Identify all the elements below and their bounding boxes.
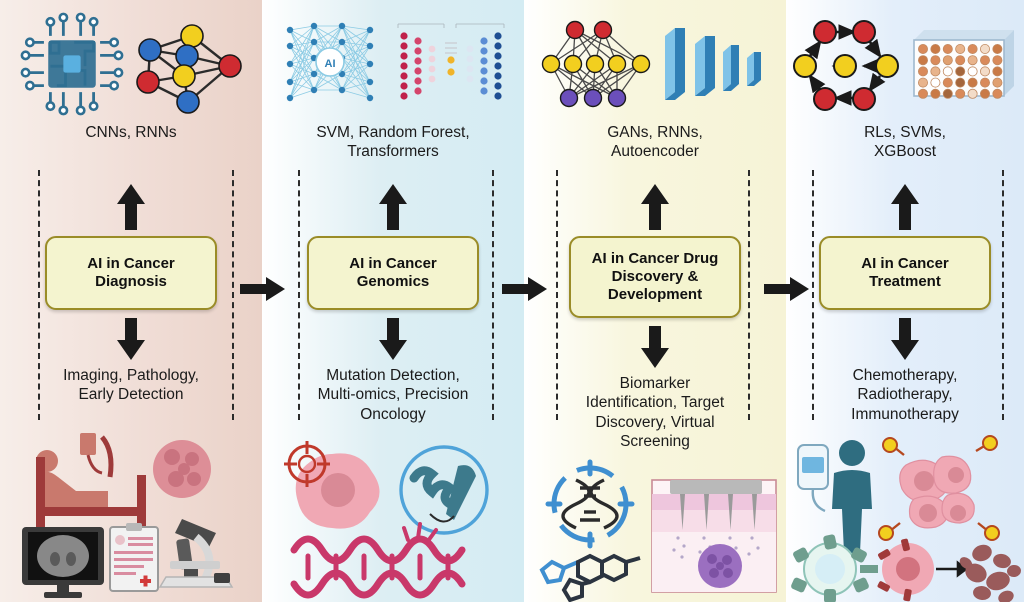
drug-discovery-bottom-artwork — [524, 462, 786, 602]
targeted-cancer-cell-icon — [860, 538, 966, 601]
gene-expression-matrix-icon — [392, 14, 510, 114]
figure-canvas: CNNs, RNNs AI in Cancer Diagnosis Imagin… — [0, 0, 1024, 602]
stage-box-genomics[interactable]: AI in Cancer Genomics — [307, 236, 479, 310]
down-arrow-drug-discovery — [640, 326, 670, 368]
tumor-cell-icon — [153, 440, 211, 498]
panel-diagnosis: CNNs, RNNs AI in Cancer Diagnosis Imagin… — [0, 0, 262, 602]
flow-arrow-1 — [240, 276, 286, 302]
drug-discovery-top-artwork — [524, 0, 786, 120]
flow-arrow-2 — [502, 276, 548, 302]
layered-neural-net-icon — [541, 12, 653, 117]
stage-box-diagnosis[interactable]: AI in Cancer Diagnosis — [45, 236, 217, 310]
down-arrow-treatment — [890, 318, 920, 360]
stage-box-drug-discovery[interactable]: AI in Cancer Drug Discovery & Developmen… — [569, 236, 741, 318]
ct-scan-monitor-icon — [22, 527, 104, 598]
svg-text:AI: AI — [325, 58, 336, 70]
neural-network-ai-icon: AI — [276, 12, 386, 117]
iv-infusion-patient-icon — [798, 440, 872, 553]
protein-structure-icon — [401, 447, 487, 533]
treatment-bottom-artwork — [786, 437, 1024, 602]
down-arrow-genomics — [378, 318, 408, 360]
algorithms-label-treatment: RLs, SVMs, XGBoost — [864, 124, 946, 168]
microneedle-patch-icon — [652, 480, 776, 592]
up-arrow-drug-discovery — [640, 184, 670, 230]
microscope-icon — [160, 519, 232, 587]
panel-genomics: AI — [262, 0, 524, 602]
network-graph-icon — [132, 14, 244, 114]
panel-drug-discovery: GANs, RNNs, Autoencoder AI in Cancer Dru… — [524, 0, 786, 602]
cnn-feature-maps-icon — [659, 14, 769, 114]
outcomes-label-drug-discovery: Biomarker Identification, Target Discove… — [548, 374, 763, 452]
targeted-cell-crosshair-icon — [284, 441, 380, 529]
up-arrow-diagnosis — [116, 184, 146, 230]
medical-chart-icon — [110, 523, 158, 591]
algorithms-label-genomics: SVM, Random Forest, Transformers — [316, 124, 469, 168]
up-arrow-genomics — [378, 184, 408, 230]
genomics-bottom-artwork — [262, 442, 524, 602]
diagnosis-bottom-artwork — [0, 427, 262, 602]
down-arrow-diagnosis — [116, 318, 146, 360]
treatment-top-artwork — [786, 0, 1024, 120]
tumor-cluster-radiation-icon — [879, 436, 999, 540]
genomics-top-artwork: AI — [262, 0, 524, 120]
panel-treatment: RLs, SVMs, XGBoost AI in Cancer Treatmen… — [786, 0, 1024, 602]
diagnosis-top-artwork — [0, 0, 262, 120]
outcomes-label-diagnosis: Imaging, Pathology, Early Detection — [24, 366, 239, 405]
lysed-cells-icon — [957, 542, 1021, 602]
algorithms-label-drug-discovery: GANs, RNNs, Autoencoder — [607, 124, 703, 168]
reinforcement-state-graph-icon — [792, 14, 900, 114]
dna-helix-icon — [294, 524, 462, 595]
outcomes-label-genomics: Mutation Detection, Multi-omics, Precisi… — [286, 366, 501, 424]
outcomes-label-treatment: Chemotherapy, Radiotherapy, Immunotherap… — [798, 366, 1013, 424]
dna-target-icon — [548, 462, 632, 546]
stage-box-treatment[interactable]: AI in Cancer Treatment — [819, 236, 991, 310]
molecule-structure-icon — [542, 556, 640, 600]
patient-in-bed-icon — [36, 433, 146, 529]
flow-arrow-3 — [764, 276, 810, 302]
ai-chip-icon — [18, 10, 126, 118]
algorithms-label-diagnosis: CNNs, RNNs — [85, 124, 176, 168]
microarray-plate-icon — [906, 18, 1018, 110]
up-arrow-treatment — [890, 184, 920, 230]
